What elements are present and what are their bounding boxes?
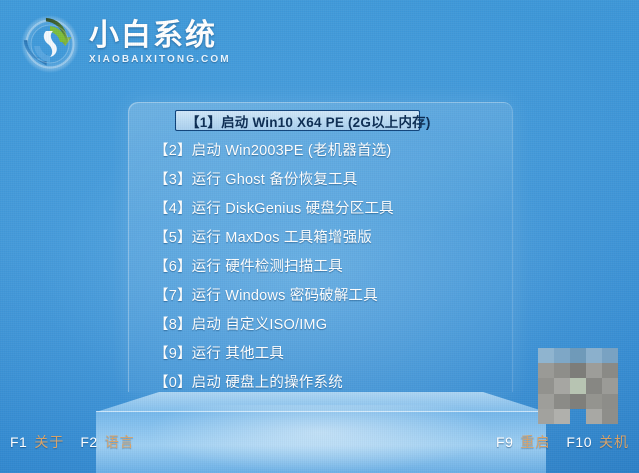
hint-key-f1: F1 — [10, 434, 27, 450]
brand-logo: 小白系统 XIAOBAIXITONG.COM — [20, 14, 231, 74]
menu-item-8[interactable]: 【8】启动 自定义ISO/IMG — [128, 309, 513, 338]
mosaic-tile — [586, 363, 602, 378]
menu-item-3[interactable]: 【3】运行 Ghost 备份恢复工具 — [128, 164, 513, 193]
mosaic-tile — [538, 363, 554, 378]
mosaic-tile — [538, 348, 554, 363]
mosaic-tile — [586, 409, 602, 424]
hints-right: F9重启F10关机 — [496, 432, 629, 452]
hint-label-f2[interactable]: 语言 — [105, 432, 135, 452]
mosaic-tile — [554, 394, 570, 409]
mosaic-tile — [602, 394, 618, 409]
hint-label-f10[interactable]: 关机 — [599, 432, 629, 452]
mosaic-tile — [586, 394, 602, 409]
mosaic-tile — [554, 363, 570, 378]
recycle-circle-logo-icon — [20, 14, 80, 74]
menu-item-6[interactable]: 【6】运行 硬件检测扫描工具 — [128, 251, 513, 280]
mosaic-tile — [602, 409, 618, 424]
mosaic-tile — [554, 378, 570, 393]
mosaic-tile — [570, 378, 586, 393]
menu-item-7[interactable]: 【7】运行 Windows 密码破解工具 — [128, 280, 513, 309]
mosaic-tile — [570, 394, 586, 409]
menu-item-0[interactable]: 【0】启动 硬盘上的操作系统 — [128, 367, 513, 396]
menu-item-4[interactable]: 【4】运行 DiskGenius 硬盘分区工具 — [128, 193, 513, 222]
pedestal-body — [96, 411, 546, 473]
mosaic-tile — [602, 363, 618, 378]
mosaic-tile — [538, 394, 554, 409]
mosaic-tile — [538, 409, 554, 424]
mosaic-tile — [586, 378, 602, 393]
mosaic-tile — [602, 348, 618, 363]
mosaic-tile — [570, 409, 586, 424]
hint-key-f9: F9 — [496, 434, 513, 450]
boot-menu-list[interactable]: 【1】启动 Win10 X64 PE (2G以上内存)【2】启动 Win2003… — [128, 106, 513, 396]
mosaic-tile — [554, 409, 570, 424]
mosaic-tile — [586, 348, 602, 363]
censored-mosaic-block — [538, 348, 618, 424]
brand-title: 小白系统 — [89, 20, 231, 52]
brand-text: 小白系统 XIAOBAIXITONG.COM — [89, 20, 231, 68]
brand-subtitle: XIAOBAIXITONG.COM — [89, 53, 231, 66]
mosaic-tile — [554, 348, 570, 363]
mosaic-tile — [538, 378, 554, 393]
menu-item-1[interactable]: 【1】启动 Win10 X64 PE (2G以上内存) — [175, 110, 420, 131]
mosaic-tile — [570, 363, 586, 378]
boot-menu-screen: 小白系统 XIAOBAIXITONG.COM 【1】启动 Win10 X64 P… — [0, 0, 639, 473]
menu-item-2[interactable]: 【2】启动 Win2003PE (老机器首选) — [128, 135, 513, 164]
hints-left: F1关于F2语言 — [10, 432, 135, 452]
hint-key-f10: F10 — [566, 434, 592, 450]
hint-key-f2: F2 — [80, 434, 97, 450]
mosaic-tile — [570, 348, 586, 363]
hint-label-f1[interactable]: 关于 — [34, 432, 64, 452]
menu-item-5[interactable]: 【5】运行 MaxDos 工具箱增强版 — [128, 222, 513, 251]
mosaic-tile — [602, 378, 618, 393]
hint-label-f9[interactable]: 重启 — [520, 432, 550, 452]
menu-item-9[interactable]: 【9】运行 其他工具 — [128, 338, 513, 367]
